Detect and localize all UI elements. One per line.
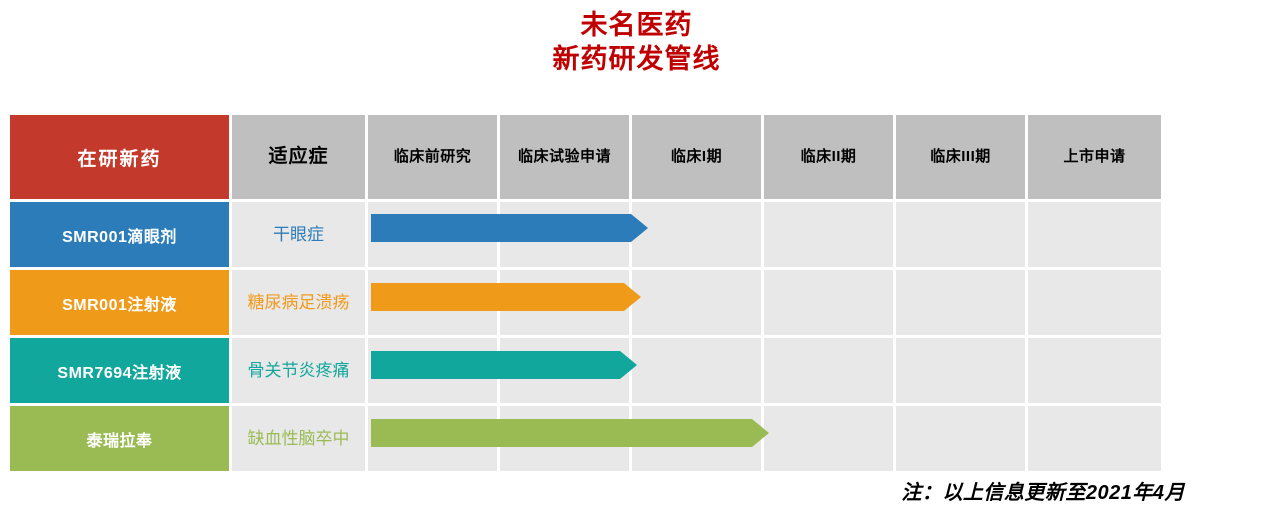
title-line-company: 未名医药: [0, 8, 1273, 42]
stage-cell-ind_filing: [500, 199, 632, 267]
indication-cell: 缺血性脑卒中: [232, 403, 368, 471]
column-header-drug: 在研新药: [10, 115, 232, 199]
stage-cell-preclinical: [368, 403, 500, 471]
page-title: 未名医药 新药研发管线: [0, 8, 1273, 76]
stage-cell-preclinical: [368, 199, 500, 267]
stage-cell-nda: [1028, 199, 1161, 267]
stage-cell-nda: [1028, 267, 1161, 335]
stage-cell-phase3: [896, 403, 1028, 471]
stage-cell-phase2: [764, 199, 896, 267]
footnote: 注：以上信息更新至2021年4月: [901, 476, 1185, 505]
stage-cell-phase1: [632, 335, 764, 403]
stage-cell-nda: [1028, 335, 1161, 403]
drug-name-cell: SMR7694注射液: [10, 335, 232, 403]
stage-cell-ind_filing: [500, 403, 632, 471]
column-header-nda: 上市申请: [1028, 115, 1161, 199]
stage-cell-phase1: [632, 267, 764, 335]
table-row: SMR001注射液糖尿病足溃疡: [10, 267, 1161, 335]
indication-cell: 干眼症: [232, 199, 368, 267]
stage-cell-phase2: [764, 403, 896, 471]
indication-cell: 骨关节炎疼痛: [232, 335, 368, 403]
stage-cell-phase2: [764, 267, 896, 335]
stage-cell-nda: [1028, 403, 1161, 471]
column-header-preclinical: 临床前研究: [368, 115, 500, 199]
table-header-row: 在研新药 适应症 临床前研究 临床试验申请 临床I期 临床II期 临床III期 …: [10, 115, 1161, 199]
stage-cell-phase3: [896, 199, 1028, 267]
stage-cell-phase1: [632, 199, 764, 267]
stage-cell-phase1: [632, 403, 764, 471]
column-header-phase1: 临床I期: [632, 115, 764, 199]
pipeline-table: 在研新药 适应症 临床前研究 临床试验申请 临床I期 临床II期 临床III期 …: [10, 115, 1161, 471]
column-header-phase2: 临床II期: [764, 115, 896, 199]
drug-name-cell: SMR001滴眼剂: [10, 199, 232, 267]
stage-cell-ind_filing: [500, 267, 632, 335]
stage-cell-preclinical: [368, 267, 500, 335]
indication-cell: 糖尿病足溃疡: [232, 267, 368, 335]
drug-name-cell: SMR001注射液: [10, 267, 232, 335]
stage-cell-ind_filing: [500, 335, 632, 403]
column-header-ind-filing: 临床试验申请: [500, 115, 632, 199]
title-line-subject: 新药研发管线: [0, 42, 1273, 76]
table-row: SMR7694注射液骨关节炎疼痛: [10, 335, 1161, 403]
table-row: SMR001滴眼剂干眼症: [10, 199, 1161, 267]
stage-cell-phase2: [764, 335, 896, 403]
table-row: 泰瑞拉奉缺血性脑卒中: [10, 403, 1161, 471]
column-header-indication: 适应症: [232, 115, 368, 199]
stage-cell-phase3: [896, 267, 1028, 335]
stage-cell-preclinical: [368, 335, 500, 403]
stage-cell-phase3: [896, 335, 1028, 403]
column-header-phase3: 临床III期: [896, 115, 1028, 199]
drug-name-cell: 泰瑞拉奉: [10, 403, 232, 471]
